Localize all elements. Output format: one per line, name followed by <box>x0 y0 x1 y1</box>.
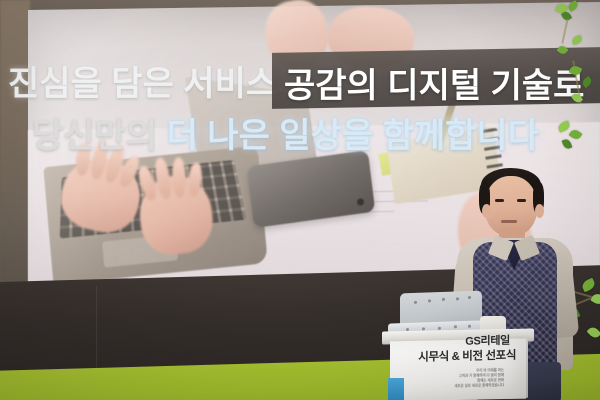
slide-headline-highlight: 공감의 디지털 기술로 <box>284 58 584 107</box>
speaker-ear-left <box>482 204 491 218</box>
wall-left-pillar <box>0 0 30 300</box>
podium-sign-fine-print: 우리 의 미래를 여는 고객과 가 함께하며 더 멀리 함께 함께는 새로운 변… <box>384 367 520 391</box>
podium-sign-event: 시무식 & 비전 선포식 <box>384 348 520 366</box>
speaker-head <box>485 176 537 236</box>
speaker-mouth <box>501 220 517 223</box>
event-photo: 진심을 담은 서비스와 공감의 디지털 기술로 당신만의 더 나은 일상을 함께… <box>0 0 600 400</box>
headline-part-plain: 진심을 담은 서비스와 <box>8 65 308 103</box>
speaker-eye-left <box>495 199 504 202</box>
wall-panel-seam <box>96 286 97 372</box>
slide-headline-line-2: 당신만의 더 나은 일상을 함께합니다 <box>32 108 539 157</box>
speaker-eye-right <box>517 199 526 202</box>
podium-sign: GS리테일 시무식 & 비전 선포식 우리 의 미래를 여는 고객과 가 함께하… <box>384 335 520 392</box>
headline-part-blue: 더 나은 일상을 함께합니다 <box>167 117 539 155</box>
slide-headline-line-1: 진심을 담은 서비스와 <box>8 56 308 105</box>
phone-camera-icon <box>357 198 365 206</box>
headline-part-gray: 당신만의 <box>32 117 157 155</box>
speaker-ear-right <box>535 204 544 218</box>
